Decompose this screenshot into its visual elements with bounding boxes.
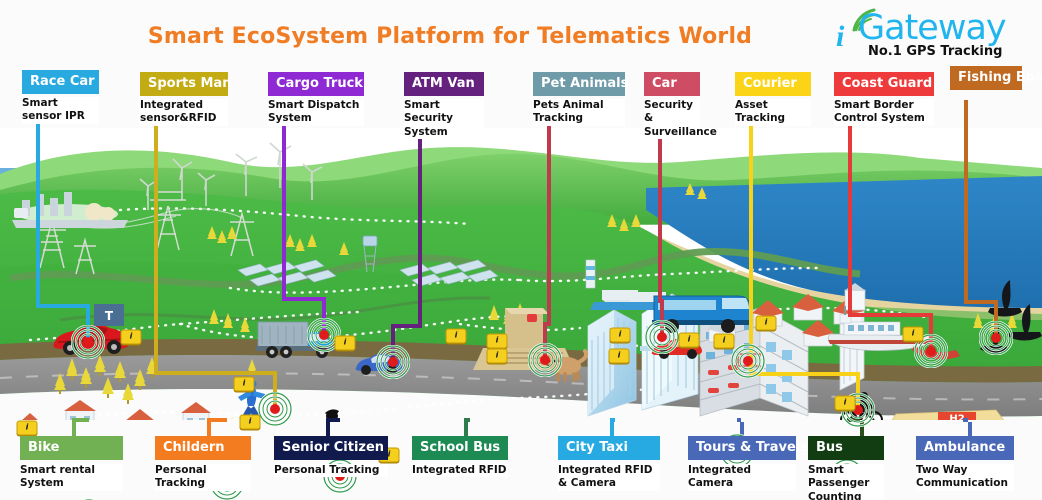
info-badge-icon-0[interactable]: i: [121, 330, 142, 345]
info-badge-icon-5[interactable]: i: [487, 334, 508, 349]
bottom-label-tours-travels[interactable]: Tours & TravelsIntegrated Camera: [688, 436, 796, 491]
connector-bottom-city-taxi-elbow: [610, 418, 615, 422]
atm-van-target[interactable]: [376, 345, 410, 379]
bottom-label-bus[interactable]: BusSmart Passenger Counting: [808, 436, 884, 500]
connector-bottom-senior-citizen-stem: [326, 422, 330, 436]
info-badge-icon-4[interactable]: i: [446, 329, 467, 344]
top-label-cargo-truck[interactable]: Cargo TruckSmart Dispatch System: [268, 72, 364, 126]
label-caption: Integrated RFID & Camera: [558, 464, 660, 490]
label-title: Coast Guard: [834, 72, 934, 96]
connector-bottom-bike-stem: [72, 422, 76, 436]
logo-i-mark: i: [836, 20, 844, 54]
label-caption: Smart rental System: [20, 464, 123, 490]
top-label-car[interactable]: CarSecurity & Surveillance: [644, 72, 700, 139]
race-car-target[interactable]: [71, 325, 105, 359]
label-caption: Personal Tracking: [155, 464, 251, 490]
label-title: Courier: [735, 72, 811, 96]
label-caption: Integrated RFID: [412, 464, 508, 477]
connector-top-cargo-truck-stem: [282, 118, 286, 301]
label-caption: Security & Surveillance: [644, 99, 700, 138]
logo-wordmark: Gateway: [858, 8, 1006, 48]
fishing-boat-target[interactable]: [979, 321, 1013, 355]
svg-text:T: T: [105, 309, 114, 323]
connector-top-coast-guard-stem: [848, 118, 852, 317]
bottom-label-childern[interactable]: ChildernPersonal Tracking: [155, 436, 251, 491]
radar-target-icon: [71, 325, 105, 359]
radar-target-icon: [528, 343, 562, 377]
connector-top-coast-guard-elbow: [848, 313, 931, 317]
connector-top-fishing-boat-elbow: [964, 300, 996, 304]
connector-top-car-stem: [658, 118, 662, 303]
info-badge-icon-7[interactable]: i: [610, 328, 631, 343]
info-badge-icon-1[interactable]: i: [17, 421, 38, 436]
label-caption: Smart Passenger Counting: [808, 464, 884, 500]
label-caption: Integrated sensor&RFID: [140, 99, 228, 125]
label-caption: Integrated Camera: [688, 464, 796, 490]
info-badge-icon-12[interactable]: i: [679, 333, 700, 348]
connector-bottom-school-bus-elbow: [464, 418, 470, 422]
label-title: School Bus: [412, 436, 508, 460]
label-title: Bike: [20, 436, 123, 460]
label-caption: Asset Tracking: [735, 99, 811, 125]
radar-target-icon: [731, 344, 765, 378]
logo-tagline: No.1 GPS Tracking: [868, 44, 1002, 59]
label-caption: Smart Border Control System: [834, 99, 934, 125]
bottom-label-ambulance[interactable]: AmbulanceTwo Way Communication: [916, 436, 1014, 491]
info-badge-icon-13[interactable]: i: [714, 334, 735, 349]
connector-top-race-car-stem: [36, 116, 40, 308]
info-badge-icon-6[interactable]: i: [487, 349, 508, 364]
top-label-courier[interactable]: CourierAsset Tracking: [735, 72, 811, 126]
label-title: City Taxi: [558, 436, 660, 460]
label-title: Senior Citizen: [274, 436, 388, 460]
connector-bottom-childern-elbow: [207, 418, 227, 422]
connector-top-courier-stem: [749, 118, 753, 376]
label-title: Car: [644, 72, 700, 96]
pet-animal-target[interactable]: [528, 343, 562, 377]
infographic-canvas: Smart EcoSystem Platform for Telematics …: [0, 0, 1042, 500]
connector-top-courier-elbow: [749, 372, 858, 376]
bottom-label-bike[interactable]: BikeSmart rental System: [20, 436, 123, 491]
bottom-label-school-bus[interactable]: School BusIntegrated RFID: [412, 436, 508, 477]
label-caption: Two Way Communication: [916, 464, 1014, 490]
label-title: Childern: [155, 436, 251, 460]
connector-top-cargo-truck-elbow: [282, 297, 324, 301]
connector-bottom-ambulance-elbow: [963, 418, 968, 422]
label-caption: Smart Dispatch System: [268, 99, 364, 125]
label-title: Race Car: [22, 70, 99, 94]
top-label-coast-guard[interactable]: Coast GuardSmart Border Control System: [834, 72, 934, 126]
top-label-race-car[interactable]: Race CarSmart sensor IPR: [22, 70, 99, 124]
radar-target-icon: [376, 345, 410, 379]
connector-top-sports-man-elbow: [154, 371, 275, 375]
info-badge-icon-8[interactable]: i: [609, 349, 630, 364]
connector-bottom-ambulance-stem: [968, 422, 972, 436]
connector-top-sports-man-stem: [154, 118, 158, 375]
info-badge-icon-11[interactable]: i: [756, 316, 777, 331]
connector-bottom-bike-elbow: [72, 418, 89, 422]
connector-top-race-car-elbow: [36, 304, 88, 308]
sports-man-target[interactable]: [258, 392, 292, 426]
label-caption: Pets Animal Tracking: [533, 99, 625, 125]
page-title: Smart EcoSystem Platform for Telematics …: [0, 24, 900, 49]
radar-target-icon: [979, 321, 1013, 355]
info-badge-icon-2[interactable]: i: [335, 336, 356, 351]
info-badge-icon-14[interactable]: i: [835, 396, 856, 411]
top-label-pet-animals[interactable]: Pet AnimalsPets Animal Tracking: [533, 72, 625, 126]
connector-top-atm-van-elbow: [393, 324, 418, 328]
radar-target-icon: [258, 392, 292, 426]
label-title: Ambulance: [916, 436, 1014, 460]
connector-top-atm-van-stem: [418, 118, 422, 328]
top-label-sports-man[interactable]: Sports ManIntegrated sensor&RFID: [140, 72, 228, 126]
radar-target-icon: [645, 320, 679, 354]
car-target[interactable]: [645, 320, 679, 354]
label-title: Sports Man: [140, 72, 228, 96]
label-title: ATM Van: [404, 72, 484, 96]
label-title: Pet Animals: [533, 72, 625, 96]
label-title: Fishing Boat: [950, 66, 1022, 90]
connector-bottom-school-bus-stem: [464, 422, 468, 436]
label-caption: Personal Tracking: [274, 464, 388, 477]
parking-target[interactable]: [731, 344, 765, 378]
connector-bottom-senior-citizen-elbow: [326, 418, 340, 422]
label-title: Cargo Truck: [268, 72, 364, 96]
label-title: Tours & Travels: [688, 436, 796, 460]
bottom-label-senior-citizen[interactable]: Senior CitizenPersonal Tracking: [274, 436, 388, 477]
top-label-fishing-boat[interactable]: Fishing Boat: [950, 66, 1022, 90]
top-label-atm-van[interactable]: ATM VanSmart Security System: [404, 72, 484, 139]
connector-bottom-city-taxi-stem: [610, 422, 614, 436]
label-title: Bus: [808, 436, 884, 460]
info-badge-icon-15[interactable]: i: [903, 327, 924, 342]
connector-top-fishing-boat-stem: [964, 100, 968, 304]
connector-top-pet-animals-stem: [547, 118, 551, 326]
connector-bottom-tours-travels-elbow: [737, 418, 741, 422]
info-badge-icon-3[interactable]: i: [234, 377, 255, 392]
label-caption: Smart sensor IPR: [22, 97, 99, 123]
label-caption: Smart Security System: [404, 99, 484, 138]
igateway-logo: i Gateway No.1 GPS Tracking: [828, 6, 1028, 58]
connector-bottom-childern-stem: [207, 422, 211, 436]
info-badge-icon-10[interactable]: i: [240, 415, 261, 430]
bottom-label-city-taxi[interactable]: City TaxiIntegrated RFID & Camera: [558, 436, 660, 491]
